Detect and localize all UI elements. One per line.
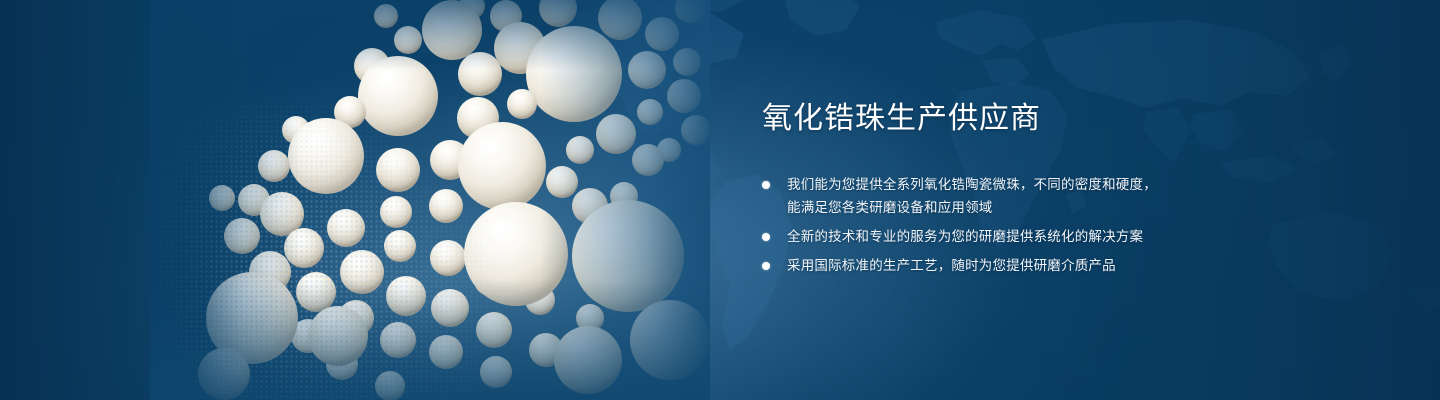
bullet-dot-icon xyxy=(762,262,770,270)
hero-banner: 氧化锆珠生产供应商 我们能为您提供全系列氧化锆陶瓷微珠，不同的密度和硬度， 能满… xyxy=(0,0,1440,400)
bullet-dot-icon xyxy=(762,233,770,241)
bullet-text-line1: 我们能为您提供全系列氧化锆陶瓷微珠，不同的密度和硬度， xyxy=(787,173,1362,196)
banner-copy: 氧化锆珠生产供应商 我们能为您提供全系列氧化锆陶瓷微珠，不同的密度和硬度， 能满… xyxy=(762,104,1362,277)
bullet-text-line1: 全新的技术和专业的服务为您的研磨提供系统化的解决方案 xyxy=(787,225,1362,248)
bullet-text-line1: 采用国际标准的生产工艺，随时为您提供研磨介质产品 xyxy=(787,254,1362,277)
bead-cluster-illustration xyxy=(150,0,710,400)
feature-bullet-list: 我们能为您提供全系列氧化锆陶瓷微珠，不同的密度和硬度， 能满足您各类研磨设备和应… xyxy=(762,173,1362,277)
bullet-dot-icon xyxy=(762,181,770,189)
list-item: 我们能为您提供全系列氧化锆陶瓷微珠，不同的密度和硬度， 能满足您各类研磨设备和应… xyxy=(762,173,1362,219)
list-item: 采用国际标准的生产工艺，随时为您提供研磨介质产品 xyxy=(762,254,1362,277)
bullet-text-line2: 能满足您各类研磨设备和应用领域 xyxy=(787,196,1362,219)
zirconia-beads-photo xyxy=(150,0,710,400)
list-item: 全新的技术和专业的服务为您的研磨提供系统化的解决方案 xyxy=(762,225,1362,248)
page-title: 氧化锆珠生产供应商 xyxy=(762,104,1362,134)
